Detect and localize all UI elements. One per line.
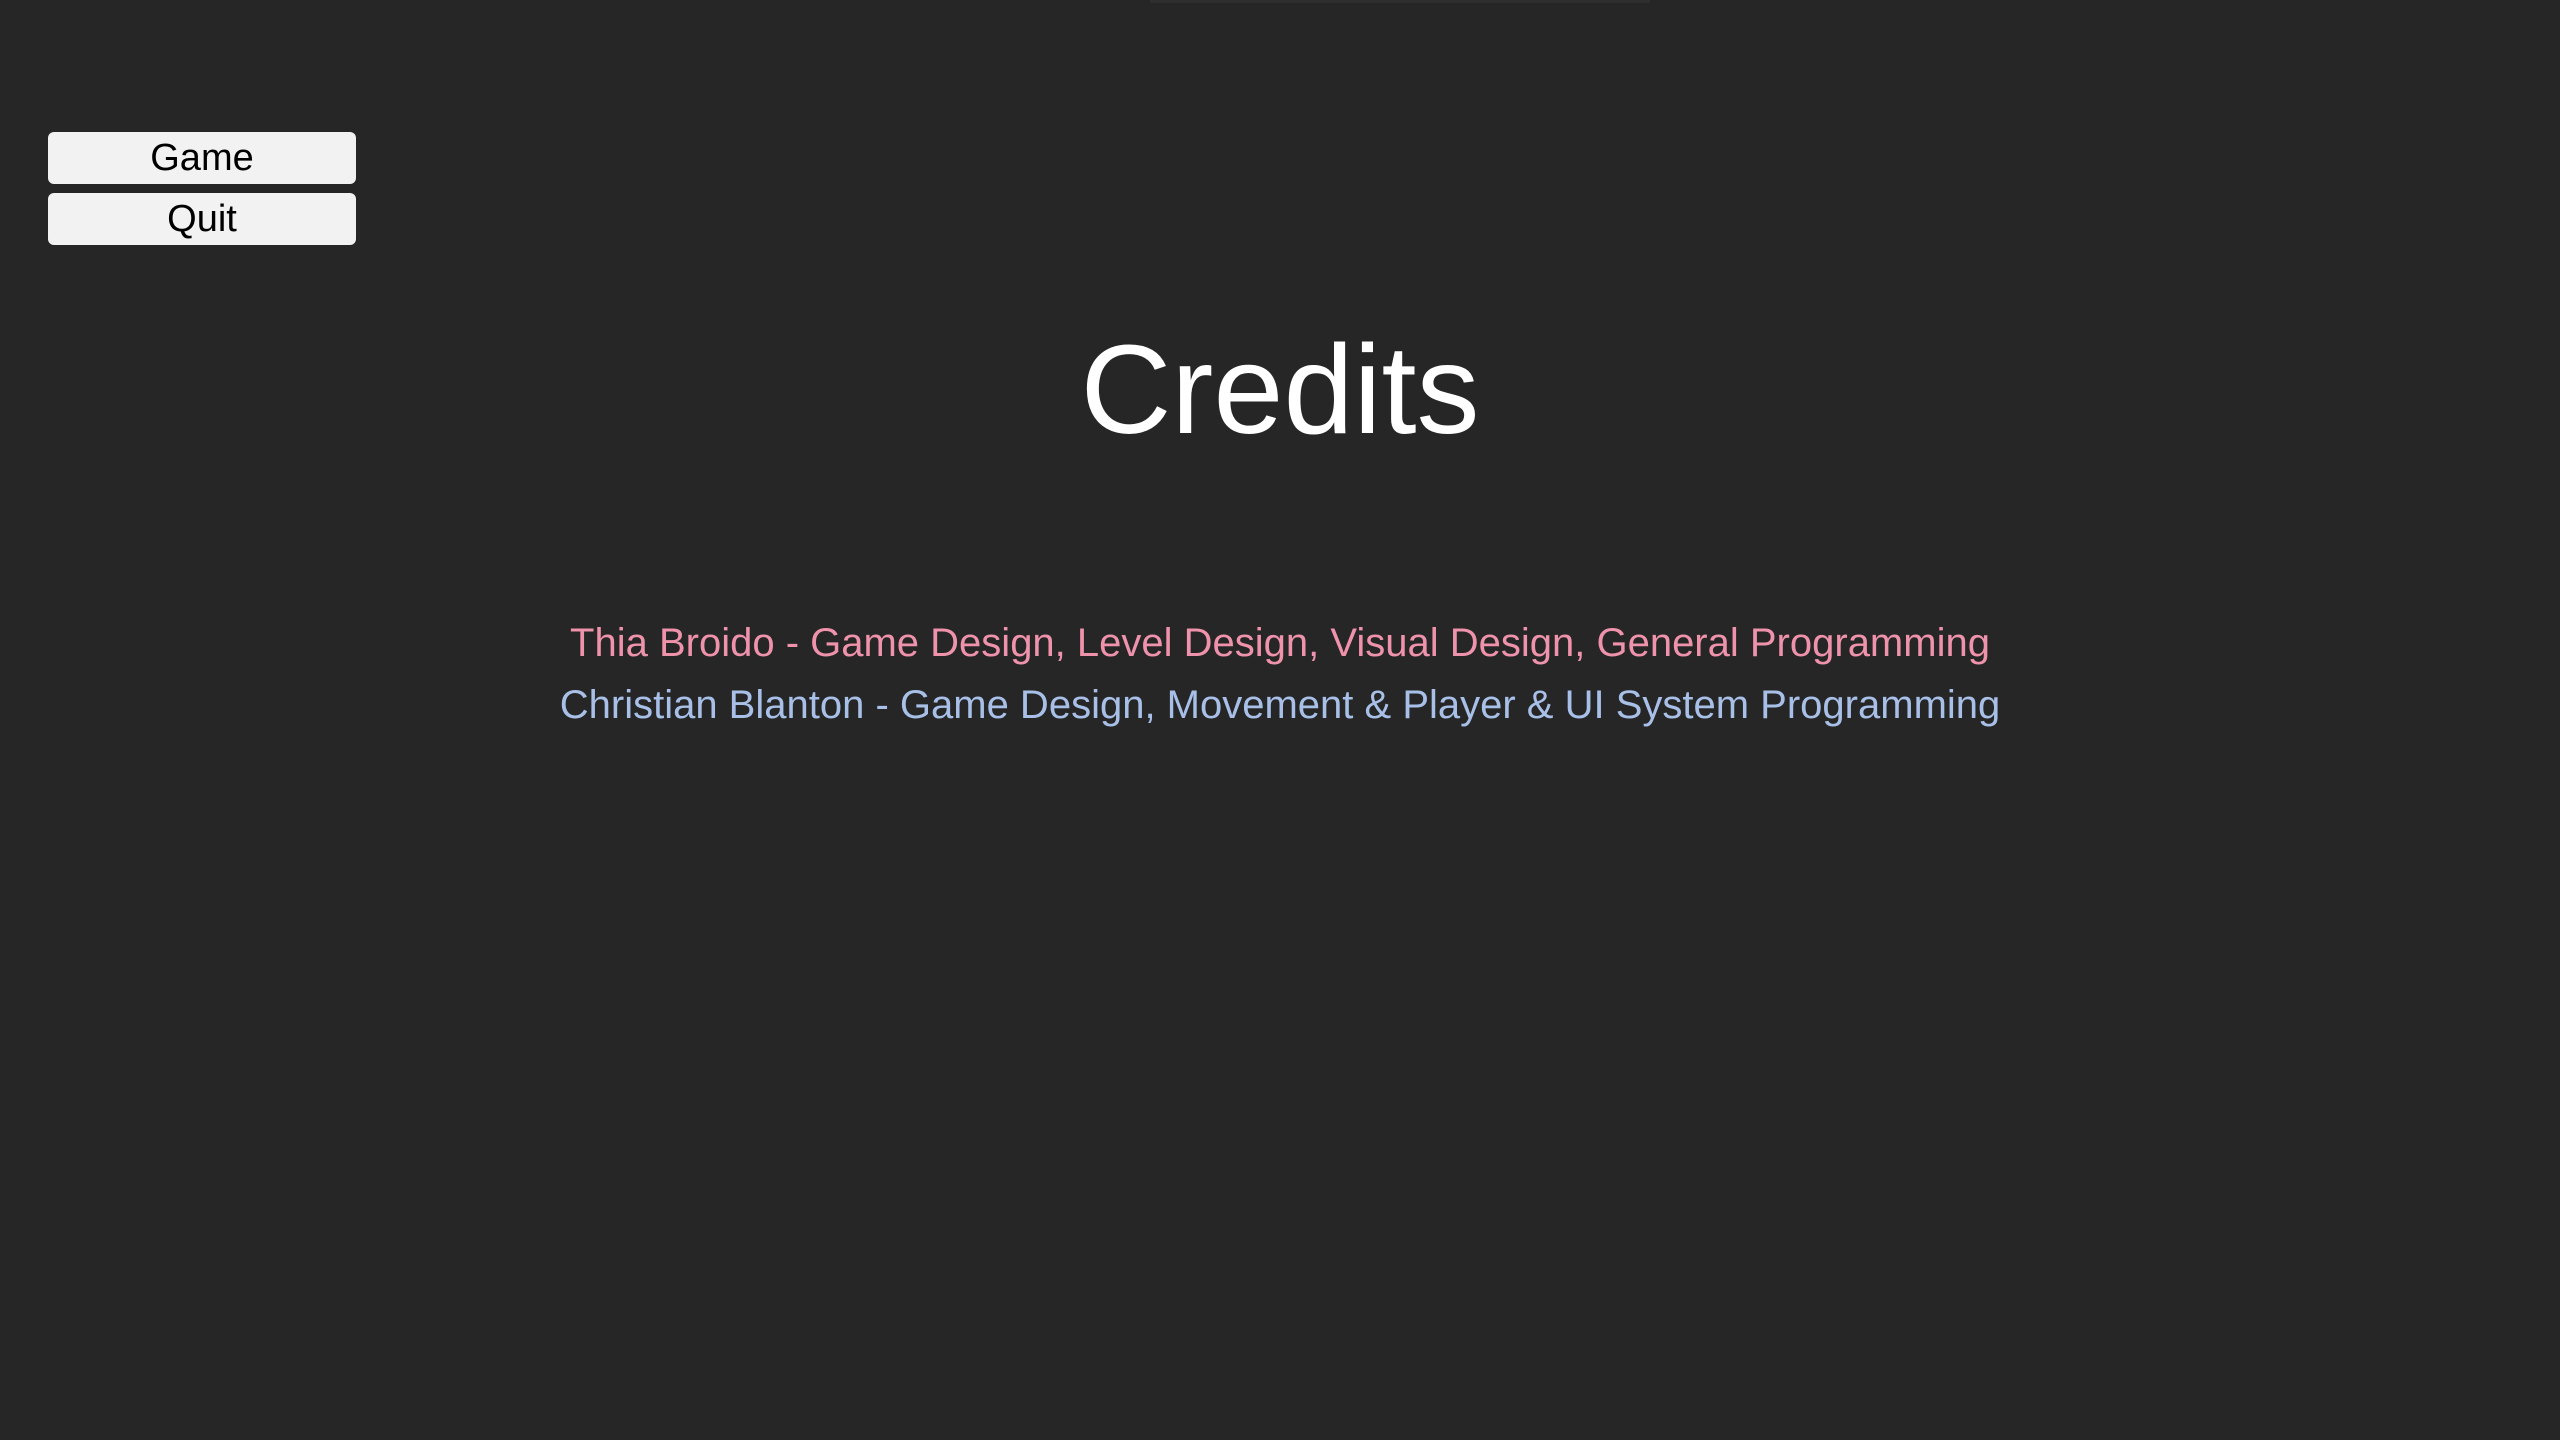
credit-line-christian-blanton: Christian Blanton - Game Design, Movemen… bbox=[0, 674, 2560, 736]
quit-button[interactable]: Quit bbox=[48, 193, 356, 245]
game-button[interactable]: Game bbox=[48, 132, 356, 184]
top-edge-strip bbox=[1150, 0, 1650, 3]
page-title: Credits bbox=[0, 320, 2560, 460]
menu-button-stack: Game Quit bbox=[48, 132, 356, 245]
credits-list: Thia Broido - Game Design, Level Design,… bbox=[0, 612, 2560, 736]
credit-line-thia-broido: Thia Broido - Game Design, Level Design,… bbox=[0, 612, 2560, 674]
